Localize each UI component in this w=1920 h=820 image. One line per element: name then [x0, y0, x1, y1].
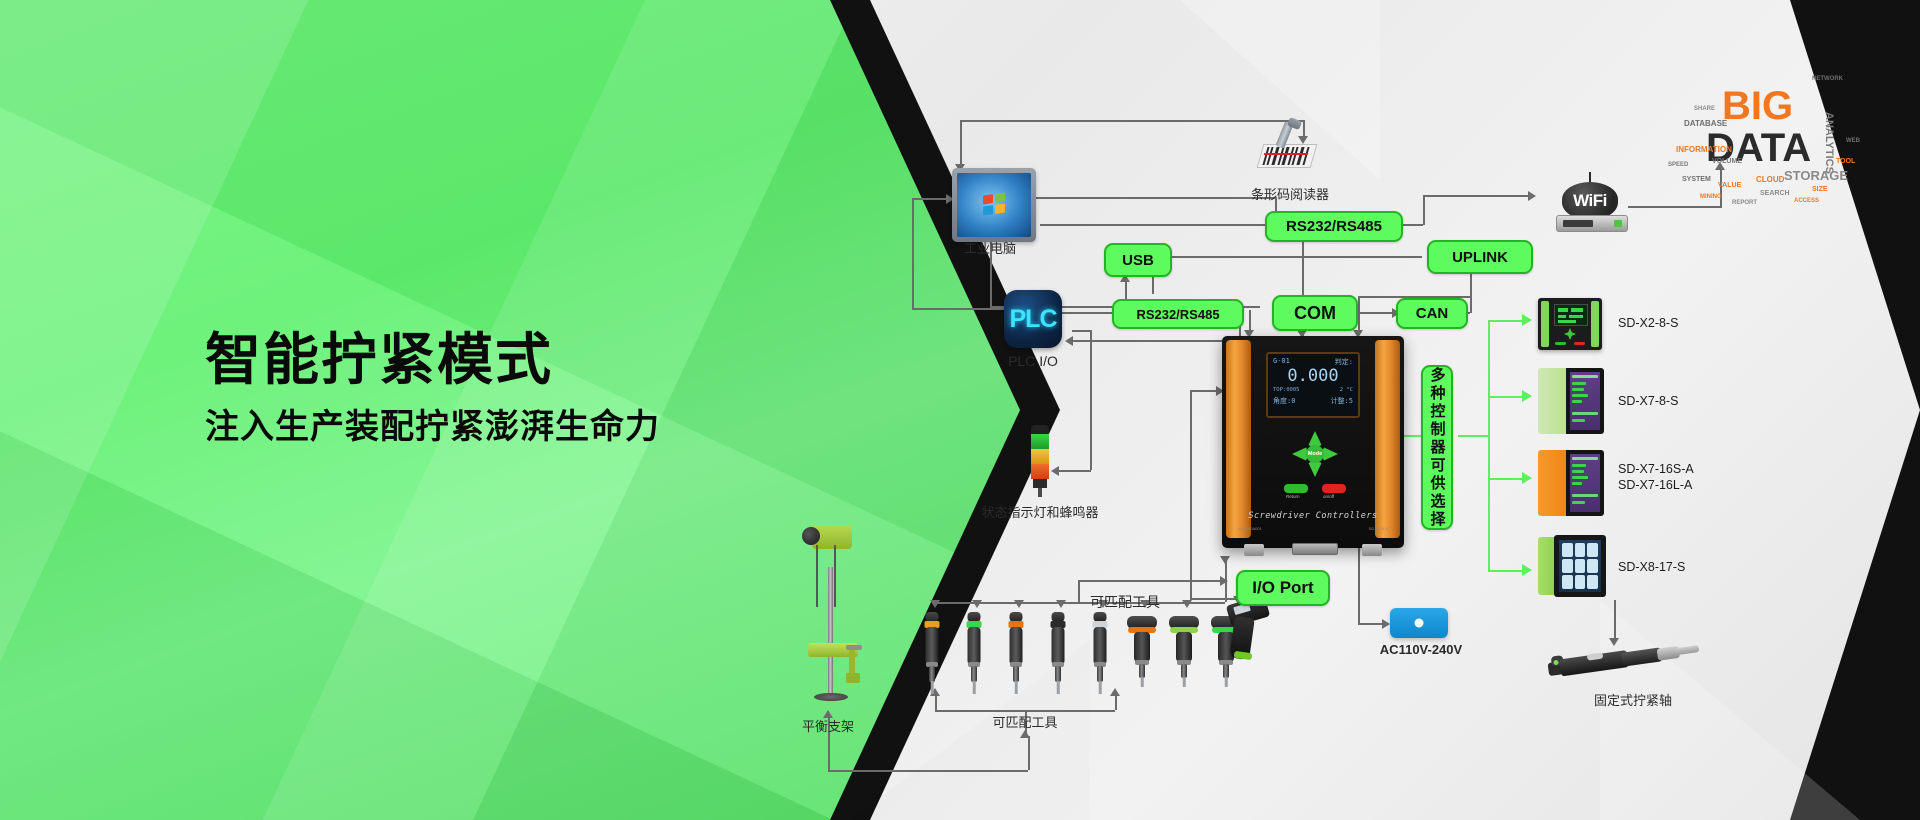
barcode-card — [1257, 144, 1318, 168]
windows-logo-icon — [983, 192, 1005, 215]
connector-line — [1358, 546, 1360, 623]
balance-arm-icon[interactable] — [790, 525, 870, 710]
controller-option-sd-x7-8-s[interactable] — [1538, 368, 1604, 434]
connector-line — [1058, 470, 1091, 472]
big-data-word: STORAGE — [1784, 169, 1848, 182]
signal-tower-icon[interactable] — [1027, 425, 1053, 497]
barcode-reader-icon[interactable] — [1258, 122, 1320, 168]
lcd-top: TOP:0005 — [1273, 387, 1300, 393]
pc-screen — [957, 173, 1031, 237]
controller-lcd-screen: G-01 判定: 0.000 TOP:0005 2 °C 角度:0 计整:5 — [1266, 352, 1360, 418]
big-data-word: SEARCH — [1760, 190, 1790, 197]
power-icon[interactable] — [1390, 608, 1448, 638]
big-data-word: ANALYTICS — [1823, 112, 1834, 174]
big-data-word: SYSTEM — [1682, 176, 1711, 183]
connector-line — [1060, 312, 1112, 314]
big-data-word: INFORMATION — [1676, 146, 1732, 154]
tower-yellow-segment — [1031, 449, 1049, 464]
controller-rail-left — [1226, 340, 1251, 538]
port-rs232-left-label: RS232/RS485 — [1136, 307, 1219, 322]
barcode-reader-label: 条形码阅读器 — [1230, 184, 1350, 203]
dpad-left-button[interactable] — [1292, 447, 1307, 461]
green-connector-line — [1488, 570, 1524, 572]
connector-line — [960, 120, 962, 166]
big-data-word-cloud-icon: BIGDATAANALYTICSSTORAGEINFORMATIONDATABA… — [1660, 50, 1900, 220]
connector-line — [1028, 736, 1030, 770]
port-usb-label: USB — [1122, 252, 1154, 269]
gun-green-trim — [1234, 651, 1253, 660]
arrow-down-icon — [972, 600, 982, 608]
big-data-word: WEB — [1846, 138, 1860, 144]
arrow-right-icon — [1528, 191, 1536, 201]
arrow-down-icon — [930, 600, 940, 608]
connector-line — [1090, 330, 1092, 470]
arm-wire-right — [834, 545, 836, 607]
lcd-count: 计整:5 — [1331, 396, 1353, 406]
lcd-angle: 角度:0 — [1273, 396, 1295, 406]
green-arrow-icon — [1522, 314, 1532, 326]
diagram-canvas: 智能拧紧模式 注入生产装配拧紧澎湃生命力 — [0, 0, 1920, 820]
barcode-scanner-gun-icon[interactable] — [1222, 600, 1286, 666]
plc-label: PLC I/O — [983, 353, 1083, 369]
industrial-pc-label: 工业电脑 — [940, 238, 1040, 257]
controller-option-label-2: SD-X7-8-S — [1618, 394, 1678, 410]
connector-line — [828, 770, 1028, 772]
arm-holder — [846, 645, 868, 685]
port-usb[interactable]: USB — [1104, 243, 1172, 277]
green-connector-line — [1488, 320, 1524, 322]
controller-rail-right — [1375, 340, 1400, 538]
connector-line — [1249, 310, 1251, 332]
port-can-label: CAN — [1416, 305, 1449, 322]
lcd-temp: 2 °C — [1340, 387, 1353, 393]
connector-line — [912, 308, 1004, 310]
port-rs232-top-label: RS232/RS485 — [1286, 218, 1382, 235]
connector-line — [1072, 330, 1091, 332]
big-data-word: REPORT — [1732, 200, 1757, 206]
big-data-word: SIZE — [1812, 186, 1828, 193]
port-io-label: I/O Port — [1252, 578, 1313, 598]
green-arrow-icon — [1522, 564, 1532, 576]
tower-green-segment — [1031, 434, 1049, 449]
green-arrow-icon — [1522, 390, 1532, 402]
tower-base — [1033, 479, 1047, 488]
connector-line — [1040, 224, 1265, 226]
connector-line — [912, 198, 914, 308]
industrial-pc-icon[interactable] — [952, 168, 1036, 242]
dpad-up-button[interactable] — [1308, 431, 1322, 446]
big-data-word: CLOUD — [1756, 176, 1784, 184]
big-data-word: NETWORK — [1812, 76, 1843, 82]
big-data-word: SPEED — [1668, 162, 1688, 168]
green-connector-line — [1458, 435, 1488, 437]
big-data-word: TOOL — [1836, 158, 1855, 165]
screwdriver-icon[interactable] — [999, 612, 1033, 698]
arm-reel — [802, 527, 820, 545]
port-rs232-top[interactable]: RS232/RS485 — [1265, 211, 1403, 242]
green-connector-line — [1488, 396, 1524, 398]
connector-line — [1423, 195, 1533, 197]
page-subtitle: 注入生产装配拧紧澎湃生命力 — [205, 399, 660, 448]
port-can[interactable]: CAN — [1396, 298, 1468, 329]
arrow-up-icon — [1020, 730, 1030, 738]
dpad-right-button[interactable] — [1323, 447, 1338, 461]
controller-option-sd-x7-16[interactable] — [1538, 450, 1604, 516]
controller-options-pill[interactable]: 多种控制器可供选择 — [1421, 365, 1453, 530]
connector-line — [1358, 296, 1360, 332]
big-data-word: DATABASE — [1684, 120, 1727, 128]
arrow-down-icon — [1014, 600, 1024, 608]
screwdriver-icon[interactable] — [1167, 612, 1201, 690]
arrow-left-icon — [1065, 336, 1073, 346]
controller-option-label-3: SD-X7-16S-A SD-X7-16L-A — [1618, 462, 1694, 493]
port-rs232-left[interactable]: RS232/RS485 — [1112, 299, 1244, 329]
screwdriver-controller-device[interactable]: G-01 判定: 0.000 TOP:0005 2 °C 角度:0 计整:5 M… — [1222, 336, 1404, 548]
tower-red-segment — [1031, 464, 1049, 479]
screwdriver-icon[interactable] — [957, 612, 991, 698]
balance-arm-label: 平衡支架 — [778, 716, 878, 735]
big-data-word: MINING — [1700, 194, 1722, 200]
controller-return-button[interactable] — [1284, 484, 1308, 493]
bg-polygon — [1600, 600, 1860, 820]
controller-onoff-button[interactable] — [1322, 484, 1346, 493]
controller-option-sd-x2-8-s[interactable] — [1538, 298, 1602, 350]
status-light-label: 状态指示灯和蜂鸣器 — [960, 502, 1120, 521]
page-title: 智能拧紧模式 — [205, 330, 660, 393]
lcd-value: 0.000 — [1273, 368, 1353, 385]
controller-brand-text: Screwdriver Controllers — [1222, 511, 1404, 521]
arrow-right-icon — [1220, 576, 1228, 586]
arrow-down-icon — [1220, 556, 1230, 564]
green-connector-line — [1488, 320, 1490, 570]
arrow-right-icon — [1382, 619, 1390, 629]
screwdriver-icon[interactable] — [1041, 612, 1075, 698]
tower-rod — [1038, 488, 1042, 497]
plc-badge: PLC — [1010, 305, 1057, 334]
dpad-down-button[interactable] — [1308, 462, 1322, 477]
big-data-word: BIG — [1722, 86, 1793, 126]
arm-base — [814, 693, 848, 701]
controller-connector-right — [1362, 544, 1382, 556]
controller-connector-left — [1244, 544, 1264, 556]
matched-tools-top-label: 可匹配工具 — [1060, 592, 1190, 612]
port-com-label: COM — [1294, 303, 1336, 324]
big-data-word: ACCESS — [1794, 198, 1819, 204]
port-io[interactable]: I/O Port — [1236, 570, 1330, 606]
arm-pole — [828, 567, 833, 697]
green-connector-line — [1488, 478, 1524, 480]
controller-return-label: Return — [1286, 494, 1300, 499]
wifi-base — [1556, 215, 1628, 232]
big-data-word: SHARE — [1694, 106, 1715, 112]
port-uplink[interactable]: UPLINK — [1427, 240, 1533, 274]
controller-dpad[interactable]: Mode — [1292, 431, 1338, 477]
dpad-mode-button[interactable]: Mode — [1306, 445, 1324, 463]
fixed-spindle-label: 固定式拧紧轴 — [1548, 690, 1718, 709]
controller-db-port — [1292, 543, 1338, 555]
wifi-icon[interactable]: WiFi — [1556, 182, 1626, 230]
controller-option-label-1: SD-X2-8-S — [1618, 316, 1678, 332]
green-arrow-icon — [1522, 472, 1532, 484]
connector-line — [1190, 390, 1192, 580]
connector-line — [1190, 580, 1192, 598]
screwdriver-icon[interactable] — [915, 612, 949, 698]
controller-serial-right: SD-X2-8-S — [1369, 526, 1388, 531]
connector-line — [1078, 580, 1193, 582]
connector-line — [1423, 195, 1425, 225]
barcode-laser-line — [1264, 153, 1309, 155]
matched-tools-bottom-label: 可匹配工具 — [960, 712, 1090, 731]
controller-onoff-label: on/off — [1323, 494, 1334, 499]
controller-serial-left: S/N:000A001 — [1238, 526, 1262, 531]
port-uplink-label: UPLINK — [1452, 249, 1508, 266]
screwdriver-icon[interactable] — [1083, 612, 1117, 698]
arm-wire-left — [816, 545, 818, 607]
connector-line — [1614, 600, 1616, 642]
big-data-word: VOLUME — [1712, 158, 1742, 165]
connector-line — [960, 120, 1305, 122]
connector-line — [1152, 256, 1422, 258]
controller-options-label: 多种控制器可供选择 — [1427, 367, 1448, 529]
screwdriver-icon[interactable] — [1125, 612, 1159, 690]
port-com[interactable]: COM — [1272, 295, 1358, 331]
controller-option-sd-x8-17-s[interactable] — [1538, 535, 1606, 597]
power-supply-label: AC110V-240V — [1366, 642, 1476, 657]
controller-option-label-4: SD-X8-17-S — [1618, 560, 1685, 576]
hero-text-block: 智能拧紧模式 注入生产装配拧紧澎湃生命力 — [205, 330, 660, 448]
big-data-word: VALUE — [1718, 182, 1741, 189]
plc-icon[interactable]: PLC — [1004, 290, 1062, 348]
